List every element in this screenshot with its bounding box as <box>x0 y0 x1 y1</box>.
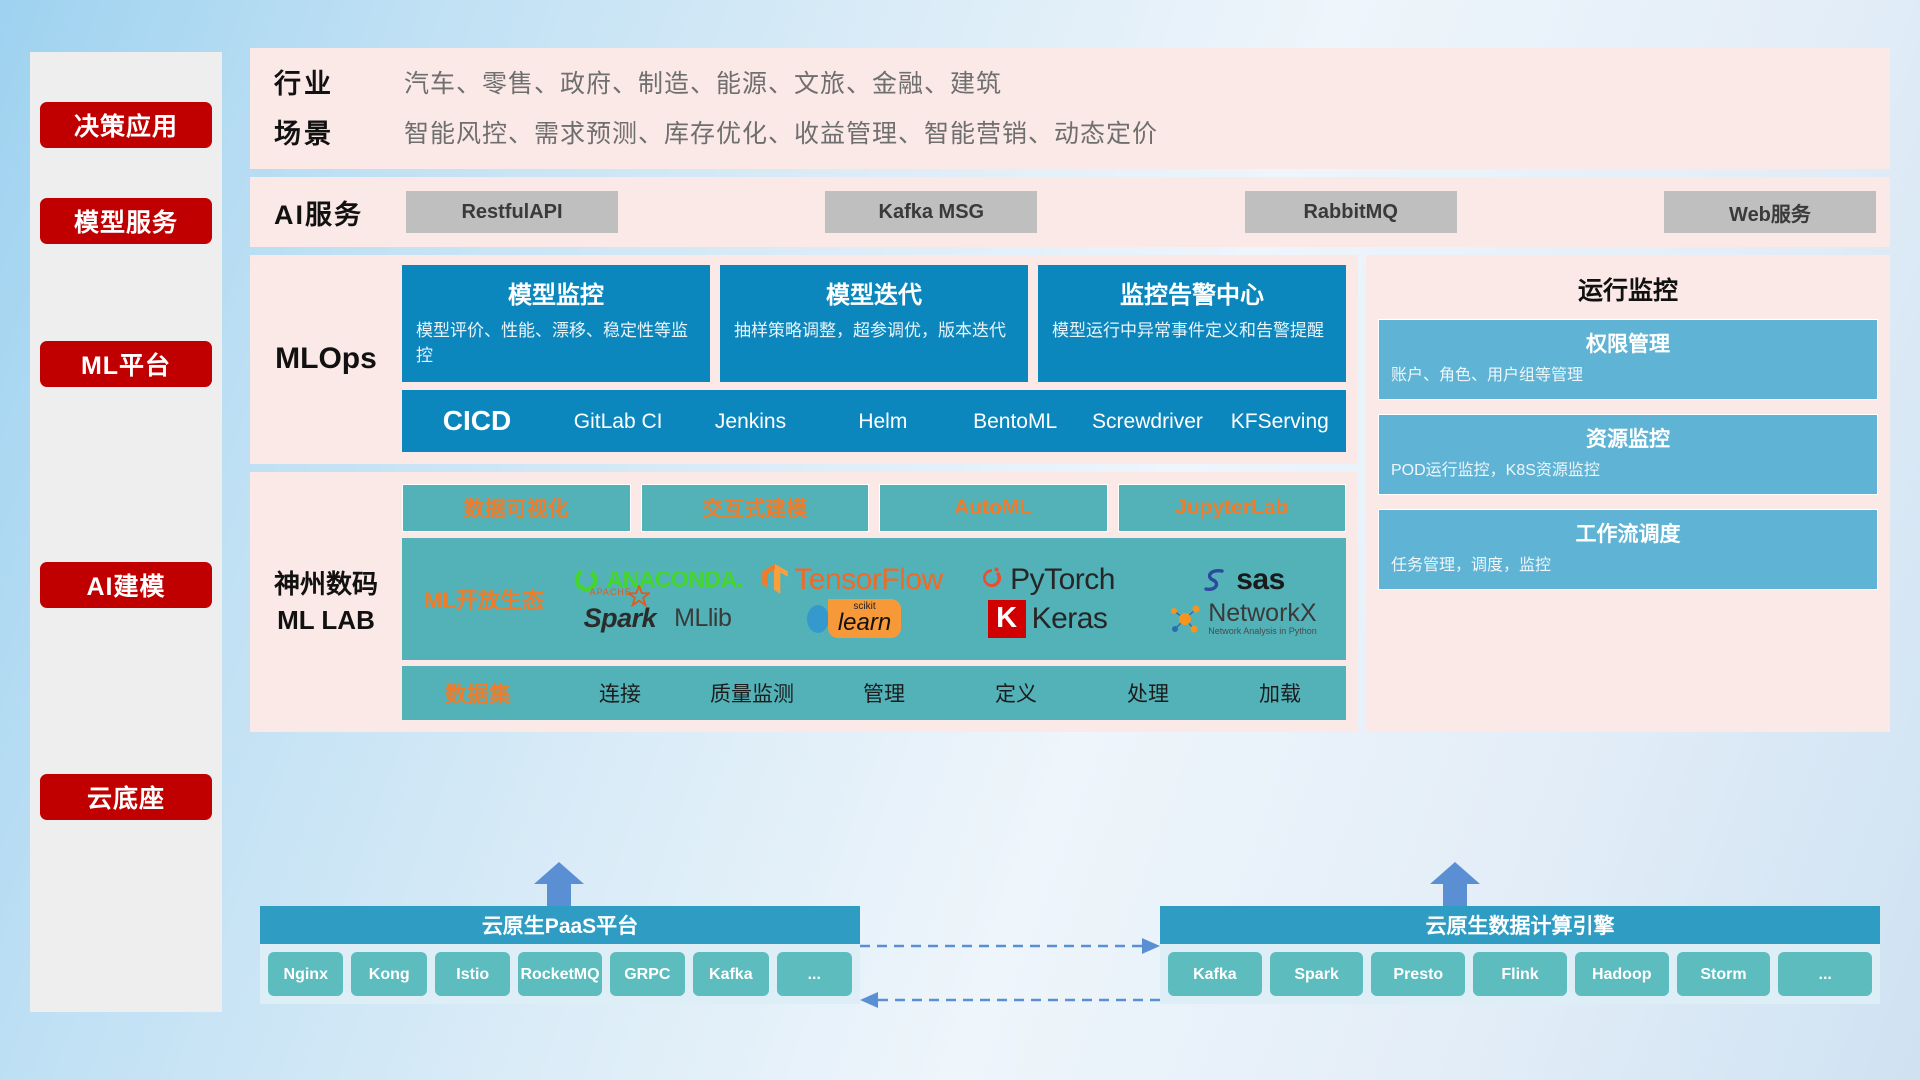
dataset-item-connect[interactable]: 连接 <box>554 678 686 708</box>
card-desc: POD运行监控，K8S资源监控 <box>1391 459 1865 482</box>
monitoring-card-permissions[interactable]: 权限管理 账户、角色、用户组等管理 <box>1378 319 1878 400</box>
scikit-learn-logo: scikit learn <box>804 599 901 638</box>
ml-ecosystem-label: ML开放生态 <box>408 583 560 615</box>
ml-ecosystem-row: ML开放生态 ANACONDA. <box>402 538 1346 660</box>
dataset-item-process[interactable]: 处理 <box>1082 678 1214 708</box>
chip-grpc[interactable]: GRPC <box>610 952 685 996</box>
engine-title: 云原生数据计算引擎 <box>1160 906 1880 944</box>
chip-storm[interactable]: Storm <box>1677 952 1771 996</box>
industry-band: 行业 场景 汽车、零售、政府、制造、能源、文旅、金融、建筑 智能风控、需求预测、… <box>250 48 1890 169</box>
tool-jupyterlab[interactable]: JupyterLab <box>1118 484 1347 532</box>
rail-item-cloud-base[interactable]: 云底座 <box>40 774 212 820</box>
scenario-label: 场景 <box>274 109 394 159</box>
chip-nginx[interactable]: Nginx <box>268 952 343 996</box>
tensorflow-icon <box>762 564 788 596</box>
ai-service-band: AI服务 RestfulAPI Kafka MSG RabbitMQ Web服务 <box>250 177 1890 247</box>
monitoring-panel: 运行监控 权限管理 账户、角色、用户组等管理 资源监控 POD运行监控，K8S资… <box>1366 255 1890 732</box>
monitoring-card-workflow[interactable]: 工作流调度 任务管理，调度，监控 <box>1378 509 1878 590</box>
dataset-row: 数据集 连接 质量监测 管理 定义 处理 加载 <box>402 666 1346 720</box>
card-title: 权限管理 <box>1391 328 1865 358</box>
chip-presto[interactable]: Presto <box>1371 952 1465 996</box>
chip-kafka[interactable]: Kafka <box>693 952 768 996</box>
dataset-label: 数据集 <box>402 677 554 709</box>
spark-label: Spark <box>584 603 657 633</box>
spark-mllib-logo: APACHE Spark MLlib <box>584 603 732 634</box>
chip-istio[interactable]: Istio <box>435 952 510 996</box>
card-title: 资源监控 <box>1391 423 1865 453</box>
spark-star-icon <box>628 585 650 607</box>
modeling-title: 神州数码 ML LAB <box>250 484 402 720</box>
arrow-up-paas-icon <box>532 860 586 906</box>
tool-automl[interactable]: AutoML <box>879 484 1108 532</box>
ai-service-buttons: RestfulAPI Kafka MSG RabbitMQ Web服务 <box>406 191 1890 233</box>
cicd-item-helm[interactable]: Helm <box>817 406 949 437</box>
engine-column: 云原生数据计算引擎 Kafka Spark Presto Flink Hadoo… <box>1160 906 1880 1004</box>
mlops-card-alert-center[interactable]: 监控告警中心 模型运行中异常事件定义和告警提醒 <box>1038 265 1346 382</box>
chip-more[interactable]: ... <box>777 952 852 996</box>
card-title: 模型迭代 <box>734 275 1014 310</box>
monitoring-title: 运行监控 <box>1378 271 1878 307</box>
engine-chips: Kafka Spark Presto Flink Hadoop Storm ..… <box>1160 944 1880 1004</box>
mlops-band: MLOps 模型监控 模型评价、性能、漂移、稳定性等监控 模型迭代 抽样策略调整… <box>250 255 1358 464</box>
paas-column: 云原生PaaS平台 Nginx Kong Istio RocketMQ GRPC… <box>260 906 860 1004</box>
service-button-kafka-msg[interactable]: Kafka MSG <box>825 191 1037 233</box>
industry-label: 行业 <box>274 59 394 109</box>
service-button-web[interactable]: Web服务 <box>1664 191 1876 233</box>
mlops-title: MLOps <box>250 265 402 452</box>
cicd-item-jenkins[interactable]: Jenkins <box>684 406 816 437</box>
service-button-restfulapi[interactable]: RestfulAPI <box>406 191 618 233</box>
cicd-item-bentoml[interactable]: BentoML <box>949 406 1081 437</box>
keras-label: Keras <box>1032 602 1108 636</box>
pytorch-icon <box>980 565 1004 595</box>
ai-service-title: AI服务 <box>274 193 406 232</box>
keras-k-icon: K <box>988 600 1026 638</box>
tool-data-visualization[interactable]: 数据可视化 <box>402 484 631 532</box>
card-title: 工作流调度 <box>1391 518 1865 548</box>
apache-label: APACHE <box>590 587 632 597</box>
dataset-item-quality[interactable]: 质量监测 <box>686 678 818 708</box>
card-desc: 模型评价、性能、漂移、稳定性等监控 <box>416 318 696 368</box>
card-desc: 任务管理，调度，监控 <box>1391 554 1865 577</box>
mlops-card-model-monitoring[interactable]: 模型监控 模型评价、性能、漂移、稳定性等监控 <box>402 265 710 382</box>
monitoring-card-resources[interactable]: 资源监控 POD运行监控，K8S资源监控 <box>1378 414 1878 495</box>
sas-logo: sas <box>1200 563 1285 597</box>
mlops-cards: 模型监控 模型评价、性能、漂移、稳定性等监控 模型迭代 抽样策略调整，超参调优，… <box>402 265 1346 382</box>
industry-list: 汽车、零售、政府、制造、能源、文旅、金融、建筑 <box>404 59 1158 109</box>
chip-kong[interactable]: Kong <box>351 952 426 996</box>
cicd-item-screwdriver[interactable]: Screwdriver <box>1081 406 1213 437</box>
rail-item-decision[interactable]: 决策应用 <box>40 102 212 148</box>
paas-title: 云原生PaaS平台 <box>260 906 860 944</box>
pytorch-logo: PyTorch <box>980 563 1115 597</box>
arrow-up-engine-icon <box>1428 860 1482 906</box>
card-desc: 账户、角色、用户组等管理 <box>1391 364 1865 387</box>
learn-label: learn <box>838 612 891 634</box>
cicd-item-gitlab-ci[interactable]: GitLab CI <box>552 406 684 437</box>
modeling-band: 神州数码 ML LAB 数据可视化 交互式建模 AutoML JupyterLa… <box>250 472 1358 732</box>
rail-item-ai-modeling[interactable]: AI建模 <box>40 562 212 608</box>
chip-rocketmq[interactable]: RocketMQ <box>518 952 601 996</box>
mllib-label: MLlib <box>674 604 731 633</box>
pytorch-label: PyTorch <box>1010 563 1115 597</box>
modeling-title-line2: ML LAB <box>274 602 378 638</box>
chip-flink[interactable]: Flink <box>1473 952 1567 996</box>
chip-hadoop[interactable]: Hadoop <box>1575 952 1669 996</box>
cicd-item-kfserving[interactable]: KFServing <box>1214 406 1346 437</box>
stack-rail: 决策应用 模型服务 ML平台 AI建模 云底座 <box>30 52 222 1012</box>
chip-spark-engine[interactable]: Spark <box>1270 952 1364 996</box>
sas-label: sas <box>1236 563 1285 597</box>
tool-interactive-modeling[interactable]: 交互式建模 <box>641 484 870 532</box>
rail-item-ml-platform[interactable]: ML平台 <box>40 341 212 387</box>
tensorflow-logo: TensorFlow <box>762 563 942 597</box>
industry-values: 汽车、零售、政府、制造、能源、文旅、金融、建筑 智能风控、需求预测、库存优化、收… <box>404 59 1158 159</box>
bidirectional-dashed-connector-icon <box>860 936 1170 1018</box>
cloud-foundation: 云原生PaaS平台 Nginx Kong Istio RocketMQ GRPC… <box>250 860 1890 1060</box>
card-title: 模型监控 <box>416 275 696 310</box>
modeling-tools: 数据可视化 交互式建模 AutoML JupyterLab <box>402 484 1346 532</box>
mlops-card-model-iteration[interactable]: 模型迭代 抽样策略调整，超参调优，版本迭代 <box>720 265 1028 382</box>
service-button-rabbitmq[interactable]: RabbitMQ <box>1245 191 1457 233</box>
networkx-logo: NetworkX Network Analysis in Python <box>1168 601 1317 636</box>
dataset-item-manage[interactable]: 管理 <box>818 678 950 708</box>
keras-logo: K Keras <box>988 600 1108 638</box>
scenario-list: 智能风控、需求预测、库存优化、收益管理、智能营销、动态定价 <box>404 109 1158 159</box>
tensorflow-label: TensorFlow <box>794 563 942 597</box>
card-desc: 模型运行中异常事件定义和告警提醒 <box>1052 318 1332 343</box>
cicd-row: CICD GitLab CI Jenkins Helm BentoML Scre… <box>402 390 1346 452</box>
sas-icon <box>1200 565 1230 595</box>
cicd-label: CICD <box>402 405 552 437</box>
dataset-item-load[interactable]: 加载 <box>1214 678 1346 708</box>
modeling-title-line1: 神州数码 <box>274 566 378 602</box>
chip-kafka-engine[interactable]: Kafka <box>1168 952 1262 996</box>
rail-item-model-service[interactable]: 模型服务 <box>40 198 212 244</box>
paas-chips: Nginx Kong Istio RocketMQ GRPC Kafka ... <box>260 944 860 1004</box>
chip-more-engine[interactable]: ... <box>1778 952 1872 996</box>
industry-labels: 行业 场景 <box>274 59 394 159</box>
networkx-label: NetworkX <box>1208 601 1317 626</box>
card-title: 监控告警中心 <box>1052 275 1332 310</box>
dataset-item-define[interactable]: 定义 <box>950 678 1082 708</box>
card-desc: 抽样策略调整，超参调优，版本迭代 <box>734 318 1014 343</box>
networkx-sub-label: Network Analysis in Python <box>1208 626 1317 636</box>
networkx-graph-icon <box>1168 602 1202 636</box>
